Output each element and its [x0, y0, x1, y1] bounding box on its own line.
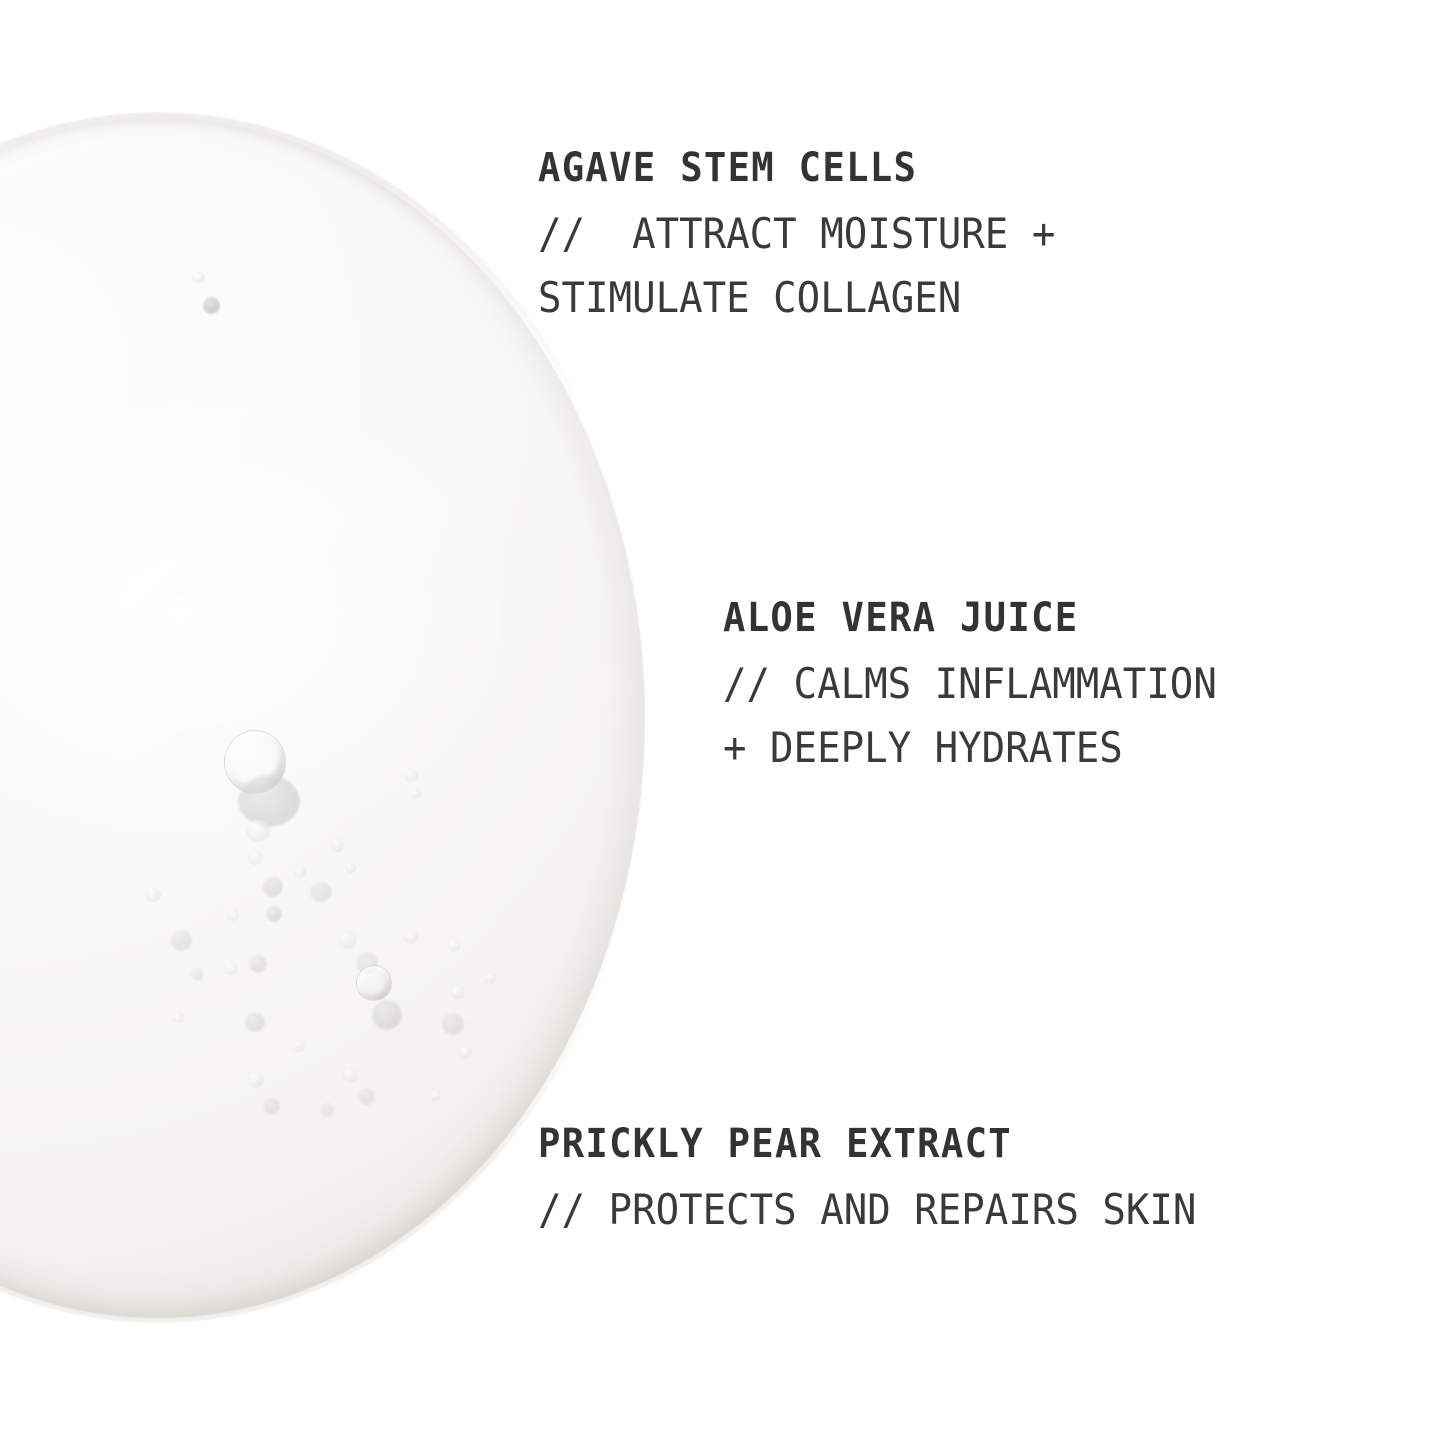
product-ingredients-graphic: AGAVE STEM CELLS // ATTRACT MOISTURE + S… [0, 0, 1445, 1445]
bubble [345, 862, 356, 873]
bubble [245, 1012, 265, 1032]
bubble [191, 968, 204, 981]
bubble [247, 1072, 264, 1088]
bubble [293, 1040, 305, 1052]
gel-blob-highlight [0, 330, 560, 890]
ingredient-name-agave: AGAVE STEM CELLS [538, 148, 1055, 188]
bubble [372, 1000, 402, 1030]
bubble [263, 1098, 280, 1115]
ingredient-description-agave: // ATTRACT MOISTURE + STIMULATE COLLAGEN [538, 202, 1055, 330]
bubble [248, 850, 263, 865]
ingredient-block-aloe: ALOE VERA JUICE // CALMS INFLAMMATION + … [723, 598, 1254, 780]
bubble [410, 788, 421, 799]
ingredient-name-prickly-pear: PRICKLY PEAR EXTRACT [538, 1124, 1196, 1164]
bubble [145, 888, 161, 902]
bubble [226, 908, 239, 921]
bubble [450, 985, 465, 999]
ingredient-description-aloe: // CALMS INFLAMMATION + DEEPLY HYDRATES [723, 652, 1217, 780]
bubble [263, 877, 283, 897]
bubble [485, 973, 496, 984]
bubble [330, 838, 344, 852]
bubble-large-ring [224, 730, 286, 794]
ingredient-block-agave: AGAVE STEM CELLS // ATTRACT MOISTURE + S… [538, 148, 1094, 330]
bubble [356, 952, 378, 974]
bubble [249, 955, 267, 973]
bubble-tail [246, 820, 270, 842]
ingredient-description-prickly-pear: // PROTECTS AND REPAIRS SKIN [538, 1178, 1196, 1242]
bubble [404, 930, 418, 944]
bubble-large-body [238, 775, 300, 827]
bubble [294, 866, 306, 878]
bubble [442, 1013, 464, 1035]
ingredient-name-aloe: ALOE VERA JUICE [723, 598, 1217, 638]
ingredient-block-prickly-pear: PRICKLY PEAR EXTRACT // PROTECTS AND REP… [538, 1124, 1246, 1242]
bubble [224, 962, 238, 975]
bubble [310, 882, 332, 902]
bubble [342, 1068, 358, 1083]
bubble [266, 906, 282, 922]
bubble [172, 1012, 184, 1023]
bubble-speck [203, 297, 220, 314]
bubble [430, 1090, 441, 1101]
bubble [358, 1088, 375, 1105]
bubble [338, 930, 357, 949]
bubble [171, 930, 192, 951]
bubble [404, 768, 418, 782]
bubble-speck-small [192, 272, 205, 283]
bubble [320, 1103, 334, 1117]
bubble [448, 940, 460, 952]
bubble [459, 1046, 472, 1059]
bubble-mid-ring [356, 965, 392, 1001]
